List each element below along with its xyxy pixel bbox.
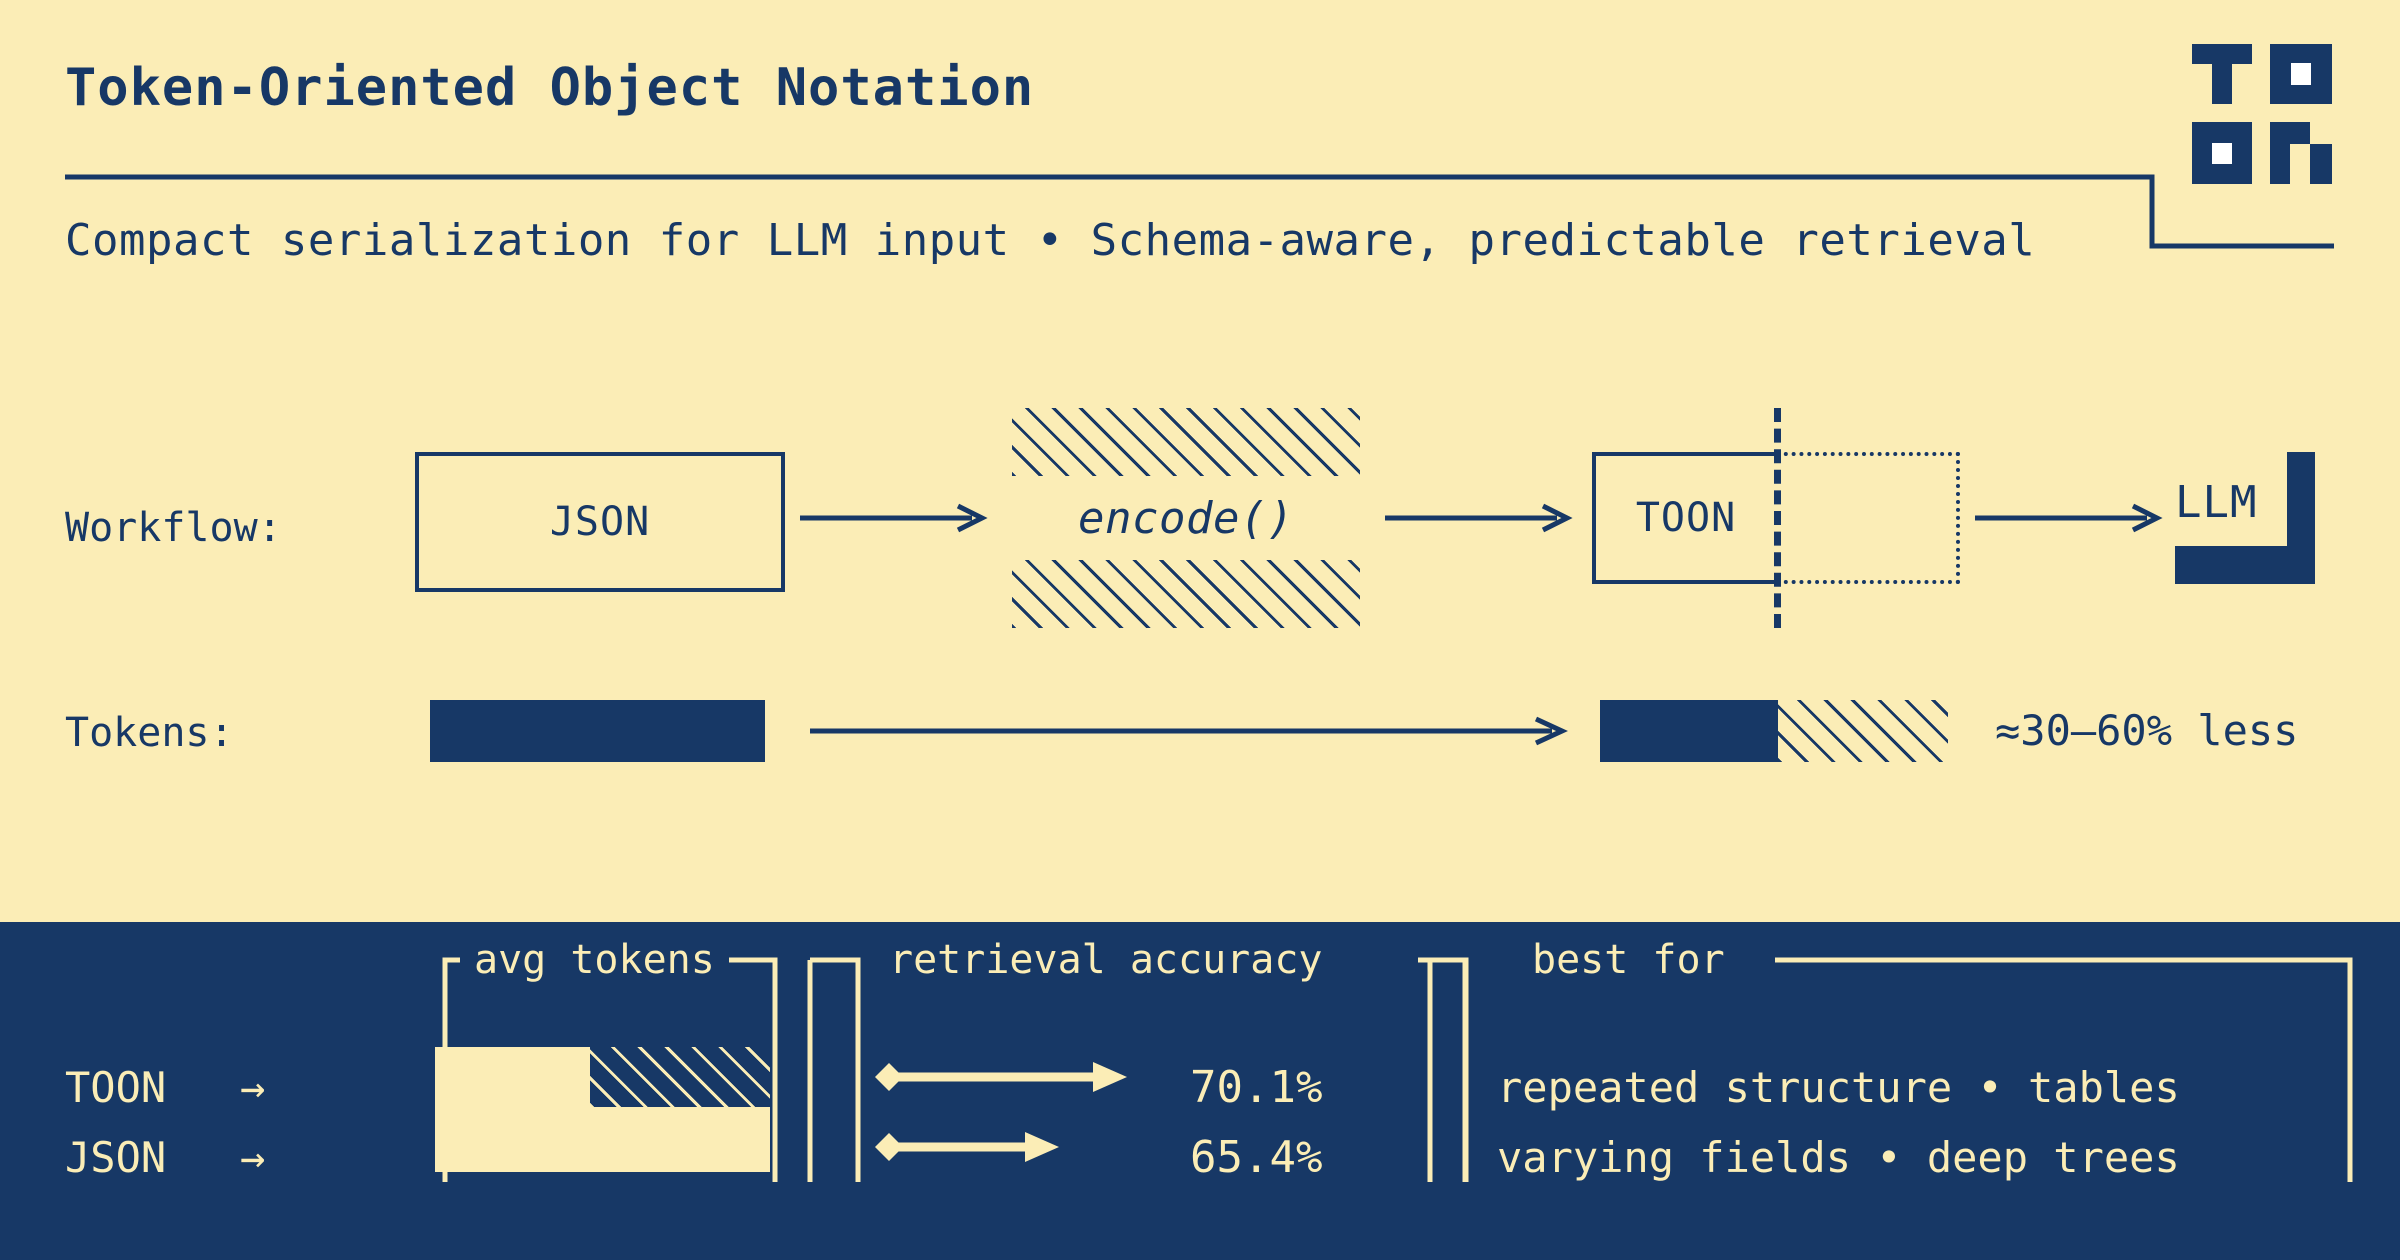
panel-retrieval-accuracy-label: retrieval accuracy	[875, 937, 1336, 983]
workflow-step-toon[interactable]: TOON	[1592, 408, 1960, 628]
best-for-line-1: repeated structure • tables	[1497, 1063, 2180, 1112]
arrow-tokens-reduction-icon	[810, 711, 1570, 751]
workflow-step-llm-label: LLM	[2175, 472, 2293, 532]
workflow-step-encode[interactable]: encode()	[1012, 408, 1360, 628]
header-section: Token-Oriented Object Notation Compact s…	[0, 0, 2400, 922]
tokens-toon-bar-solid	[1600, 700, 1778, 762]
workflow-row-label: Workflow:	[65, 505, 282, 551]
legend-arrow-toon-icon: →	[240, 1063, 265, 1112]
toon-box-dotted-half	[1776, 452, 1960, 584]
tokens-savings-note: ≈30–60% less	[1995, 706, 2298, 755]
page-subtitle: Compact serialization for LLM input • Sc…	[65, 215, 2035, 266]
encode-hatch-bottom	[1012, 560, 1360, 628]
tokens-toon-bar-hatched	[1778, 700, 1948, 762]
infographic-root: Token-Oriented Object Notation Compact s…	[0, 0, 2400, 1260]
panel-best-for-label: best for	[1518, 937, 1739, 983]
panel-avg-tokens-label: avg tokens	[460, 937, 729, 983]
accuracy-value-toon: 70.1%	[1190, 1062, 1322, 1113]
toon-box-divider-icon	[1774, 408, 1781, 628]
best-for-line-2: varying fields • deep trees	[1497, 1133, 2180, 1182]
avg-tokens-bar-json-fill	[435, 1107, 770, 1172]
tokens-row-label: Tokens:	[65, 710, 234, 756]
arrow-encode-to-toon-icon	[1385, 498, 1575, 538]
legend-label-toon: TOON	[65, 1063, 166, 1112]
toon-box-solid-half: TOON	[1592, 452, 1776, 584]
avg-tokens-bar-toon-fill	[435, 1047, 590, 1107]
legend-label-json: JSON	[65, 1133, 166, 1182]
comparison-panel: TOON → JSON → avg tokens retrieval accur…	[0, 922, 2400, 1260]
workflow-step-encode-label: encode()	[1012, 476, 1360, 560]
accuracy-bar-toon-icon	[875, 1052, 1135, 1102]
accuracy-bar-json-icon	[875, 1122, 1135, 1172]
encode-hatch-top	[1012, 408, 1360, 476]
workflow-step-json-label: JSON	[550, 499, 650, 545]
arrow-toon-to-llm-icon	[1975, 498, 2165, 538]
arrow-json-to-encode-icon	[800, 498, 990, 538]
toon-logo-icon	[2192, 44, 2332, 184]
page-title: Token-Oriented Object Notation	[65, 58, 1034, 118]
legend-arrow-json-icon: →	[240, 1133, 265, 1182]
workflow-step-llm[interactable]: LLM	[2175, 452, 2315, 584]
tokens-json-bar	[430, 700, 765, 762]
workflow-step-json[interactable]: JSON	[415, 452, 785, 592]
accuracy-value-json: 65.4%	[1190, 1132, 1322, 1183]
workflow-step-toon-label: TOON	[1636, 495, 1736, 541]
avg-tokens-bar-toon-hatch	[590, 1047, 770, 1107]
